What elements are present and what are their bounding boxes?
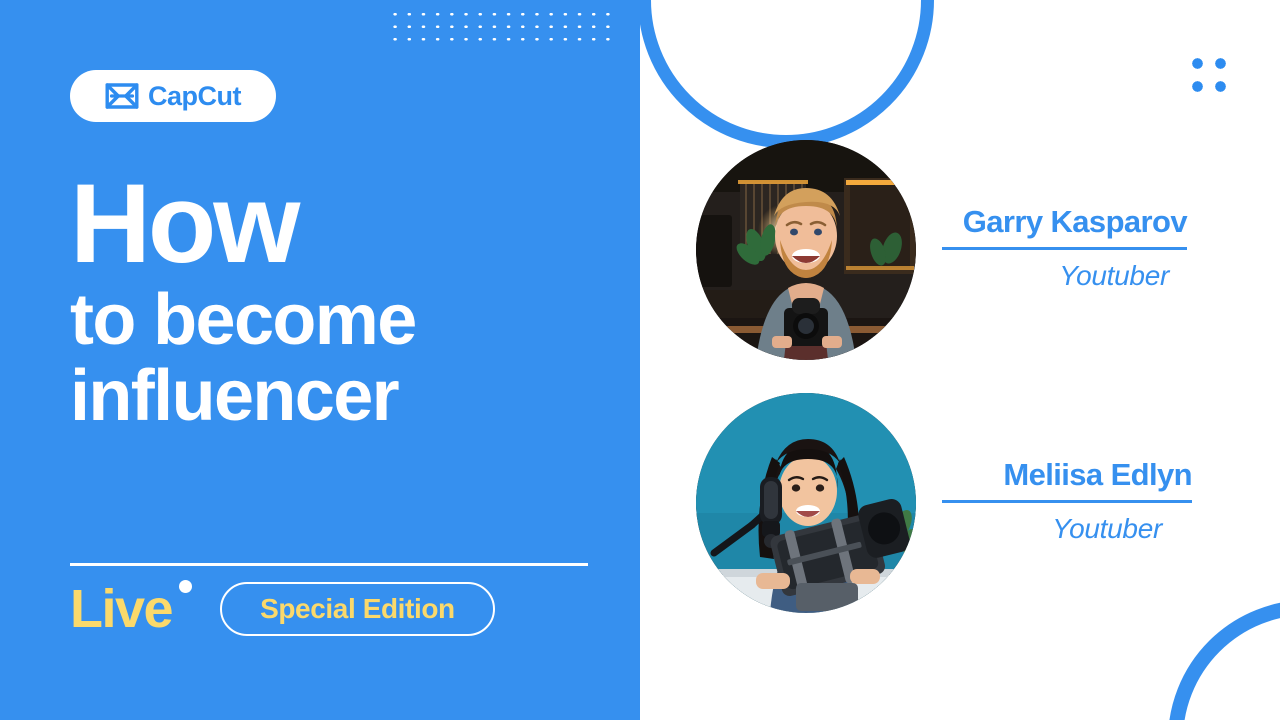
speaker-name-underline-2 bbox=[942, 500, 1192, 503]
special-edition-badge[interactable]: Special Edition bbox=[220, 582, 495, 636]
capcut-logo-text: CapCut bbox=[148, 83, 241, 110]
dot-grid-blue-decoration bbox=[1186, 52, 1232, 98]
headline-line-3: influencer bbox=[70, 358, 610, 434]
live-label-text: Live bbox=[70, 579, 172, 639]
headline-divider bbox=[70, 563, 588, 566]
headline-line-2: to become bbox=[70, 282, 610, 358]
arc-top-decoration bbox=[638, 0, 934, 148]
speaker-name-underline-1 bbox=[942, 247, 1187, 250]
speaker-avatar-2 bbox=[696, 393, 916, 613]
speaker-card-1: Garry Kasparov Youtuber bbox=[696, 140, 1187, 360]
speaker-name-1: Garry Kasparov bbox=[963, 204, 1187, 240]
speaker-role-1: Youtuber bbox=[1059, 262, 1187, 290]
speaker-info-1: Garry Kasparov Youtuber bbox=[942, 204, 1187, 296]
capcut-hourglass-icon bbox=[105, 82, 139, 110]
live-dot-icon bbox=[179, 580, 192, 593]
page-title: How to become influencer bbox=[70, 172, 610, 435]
speaker-info-2: Meliisa Edlyn Youtuber bbox=[942, 457, 1192, 549]
arc-bottom-decoration bbox=[1168, 600, 1280, 720]
headline-line-1: How bbox=[70, 172, 610, 276]
live-badge-row: Live Special Edition bbox=[70, 582, 495, 636]
poster-canvas: CapCut How to become influencer Live Spe… bbox=[0, 0, 1280, 720]
speaker-name-2: Meliisa Edlyn bbox=[1003, 457, 1192, 493]
capcut-logo[interactable]: CapCut bbox=[70, 70, 276, 122]
dot-grid-white-decoration bbox=[388, 8, 616, 50]
speaker-role-2: Youtuber bbox=[1052, 515, 1192, 543]
speaker-avatar-1 bbox=[696, 140, 916, 360]
live-label: Live bbox=[70, 582, 194, 636]
speaker-card-2: Meliisa Edlyn Youtuber bbox=[696, 393, 1192, 613]
special-edition-label: Special Edition bbox=[260, 595, 455, 623]
